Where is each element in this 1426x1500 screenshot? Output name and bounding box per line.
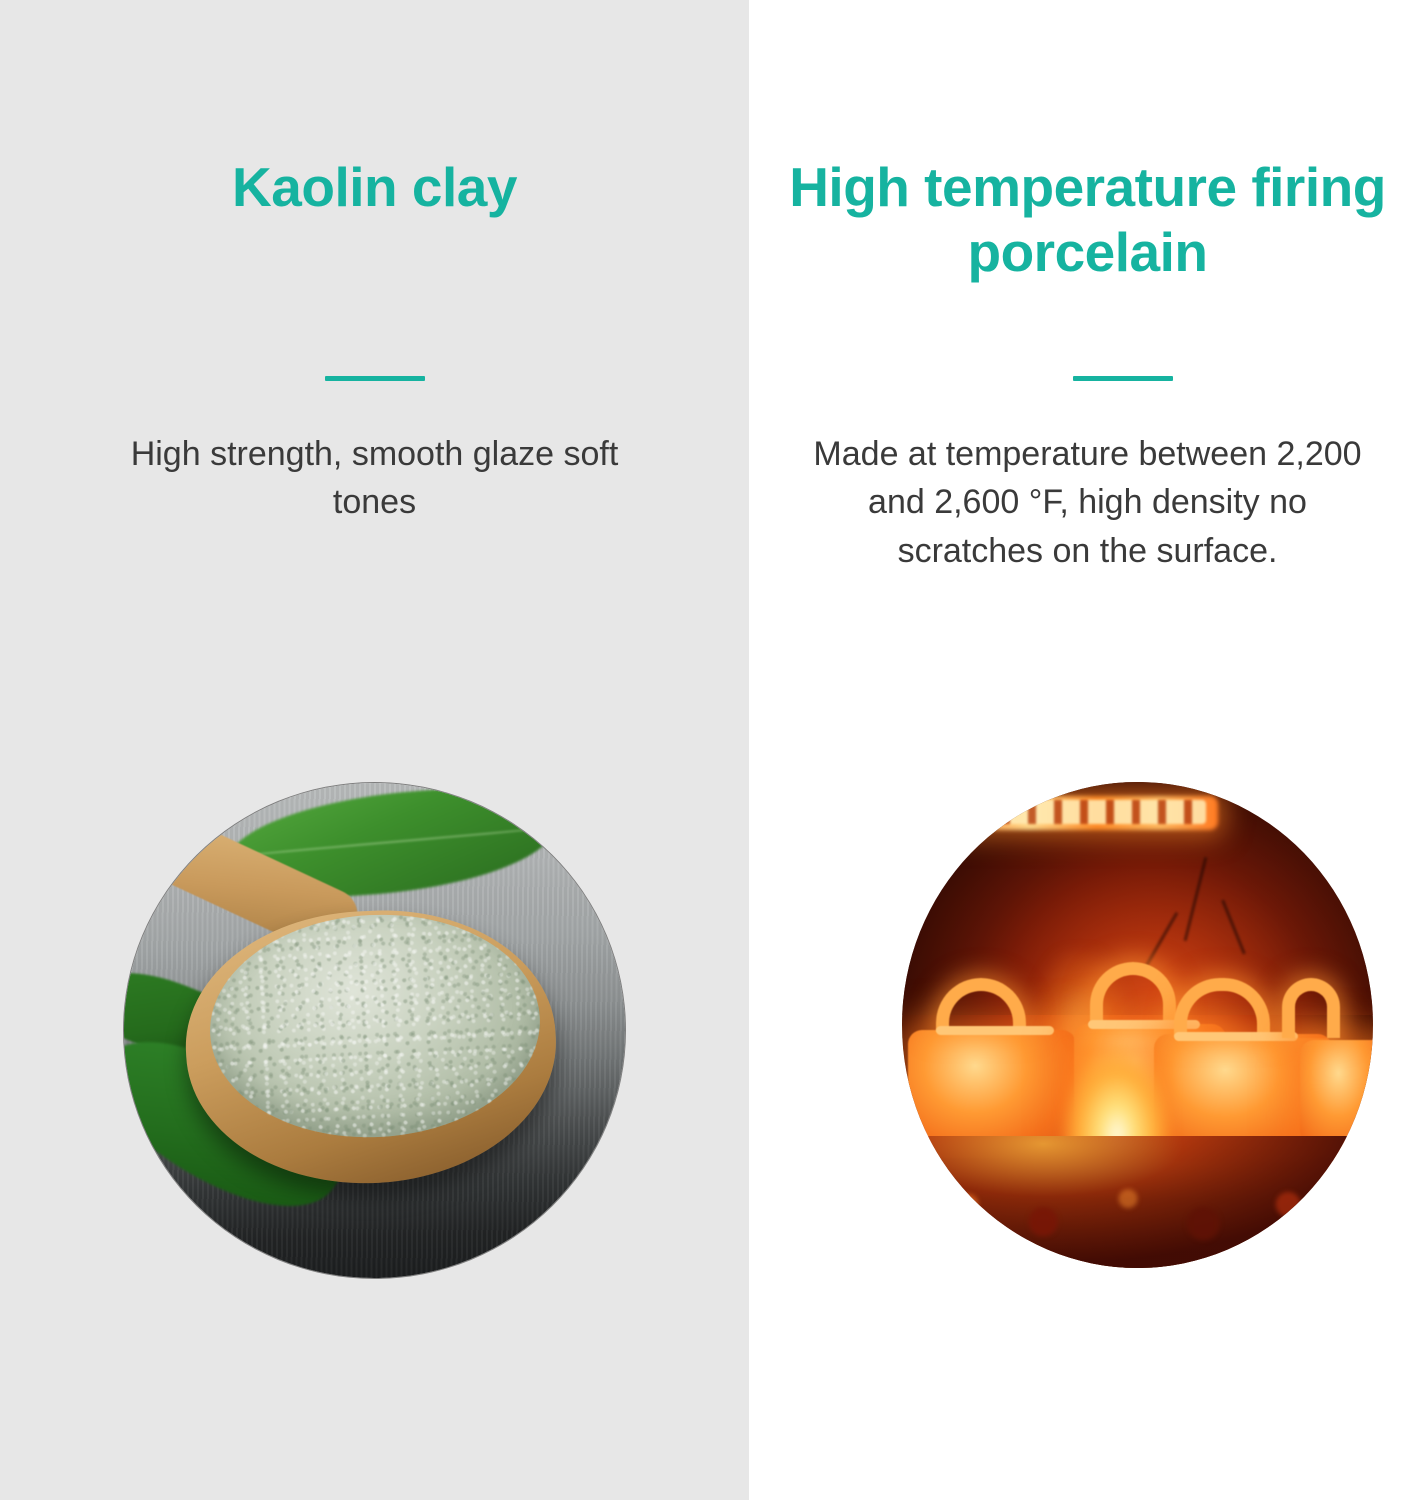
kiln-firing-photo-scene	[902, 782, 1373, 1268]
kiln-ceiling-bricks	[958, 800, 1206, 824]
panel-body-kaolin-clay: High strength, smooth glaze soft tones	[0, 430, 749, 527]
panel-body-high-temperature-firing: Made at temperature between 2,200 and 2,…	[749, 430, 1426, 575]
product-feature-infographic: Kaolin clay High strength, smooth glaze …	[0, 0, 1426, 1500]
kiln-ember-coals	[902, 1166, 1373, 1262]
glowing-teapot-rim	[936, 1026, 1054, 1035]
accent-divider-left	[325, 376, 425, 381]
glowing-teapot-handle	[1282, 978, 1340, 1038]
panel-heading-high-temperature-firing: High temperature firing porcelain	[749, 155, 1426, 285]
feature-panel-kaolin-clay: Kaolin clay High strength, smooth glaze …	[0, 0, 749, 1500]
glowing-teapot-rim	[1174, 1032, 1298, 1041]
kaolin-clay-photo	[124, 783, 625, 1278]
kaolin-clay-photo-scene	[124, 783, 625, 1278]
kiln-firing-photo	[902, 782, 1373, 1268]
accent-divider-right	[1073, 376, 1173, 381]
feature-panel-high-temperature-firing: High temperature firing porcelain Made a…	[749, 0, 1426, 1500]
panel-heading-kaolin-clay: Kaolin clay	[0, 155, 749, 220]
